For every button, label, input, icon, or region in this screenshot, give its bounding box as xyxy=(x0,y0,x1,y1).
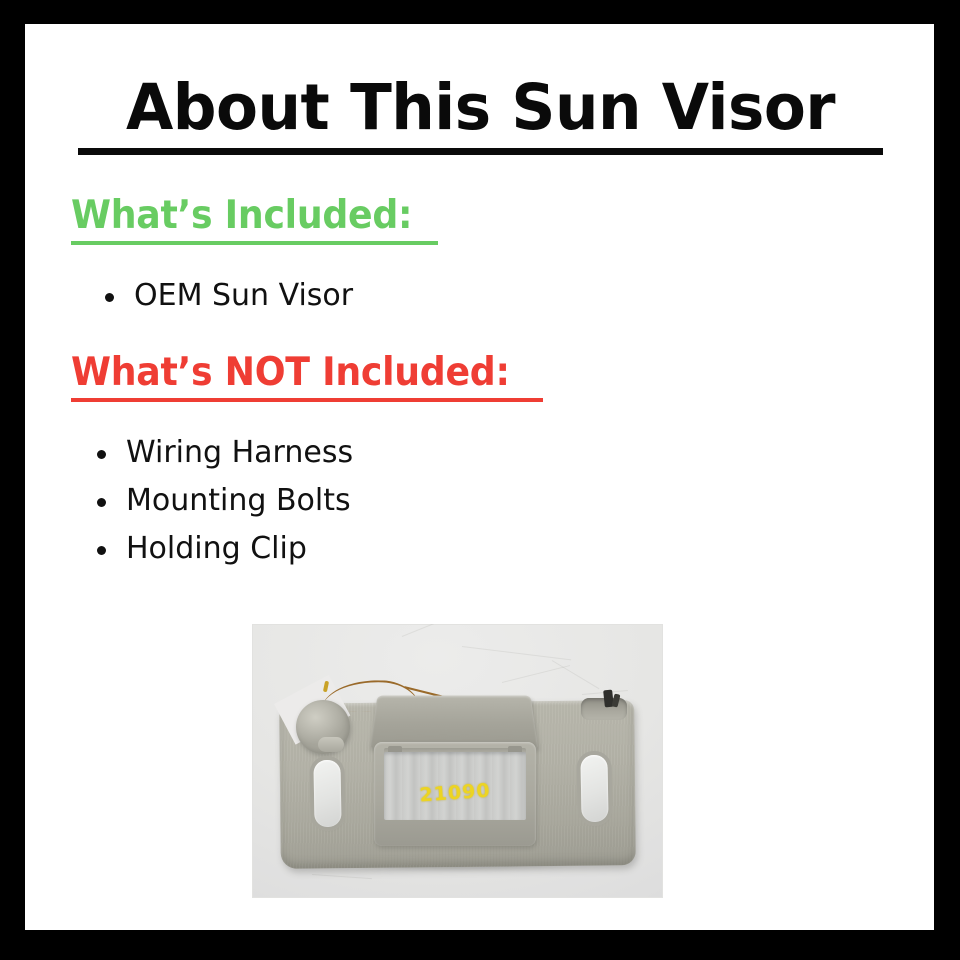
backdrop-scuff xyxy=(552,660,600,689)
backdrop-scuff xyxy=(462,646,571,660)
vanity-mirror-bezel: 21090 xyxy=(374,742,536,846)
backdrop-scuff xyxy=(402,624,449,637)
title-underline xyxy=(78,148,883,155)
included-list: OEM Sun Visor xyxy=(101,272,353,320)
list-item-label: Wiring Harness xyxy=(126,435,353,470)
vanity-mirror-cover xyxy=(370,696,538,748)
list-item: Wiring Harness xyxy=(93,429,353,477)
heading-whats-not-included-label: What’s NOT Included: xyxy=(71,353,510,392)
heading-whats-not-included: What’s NOT Included: xyxy=(71,353,543,402)
heading-whats-included-label: What’s Included: xyxy=(71,196,412,235)
list-item: Holding Clip xyxy=(93,525,353,573)
list-item-label: Mounting Bolts xyxy=(126,483,351,518)
heading-whats-not-included-underline xyxy=(71,398,543,402)
poster-root: About This Sun Visor What’s Included: OE… xyxy=(0,0,960,960)
pivot-mount-stem xyxy=(318,737,344,752)
list-item-label: Holding Clip xyxy=(126,531,307,566)
list-item: OEM Sun Visor xyxy=(101,272,353,320)
list-item-label: OEM Sun Visor xyxy=(134,278,353,313)
poster-card: About This Sun Visor What’s Included: OE… xyxy=(25,24,934,930)
heading-whats-included: What’s Included: xyxy=(71,196,438,245)
backdrop-scuff xyxy=(312,874,372,879)
heading-whats-included-underline xyxy=(71,241,438,245)
not-included-list: Wiring Harness Mounting Bolts Holding Cl… xyxy=(93,429,353,573)
vanity-light-lens-left xyxy=(313,760,341,827)
product-photo: 21090 xyxy=(252,624,663,898)
list-item: Mounting Bolts xyxy=(93,477,353,525)
title-block: About This Sun Visor xyxy=(78,76,883,155)
backdrop-scuff xyxy=(502,665,570,683)
vanity-light-lens-right xyxy=(580,755,608,822)
page-title: About This Sun Visor xyxy=(90,76,871,139)
